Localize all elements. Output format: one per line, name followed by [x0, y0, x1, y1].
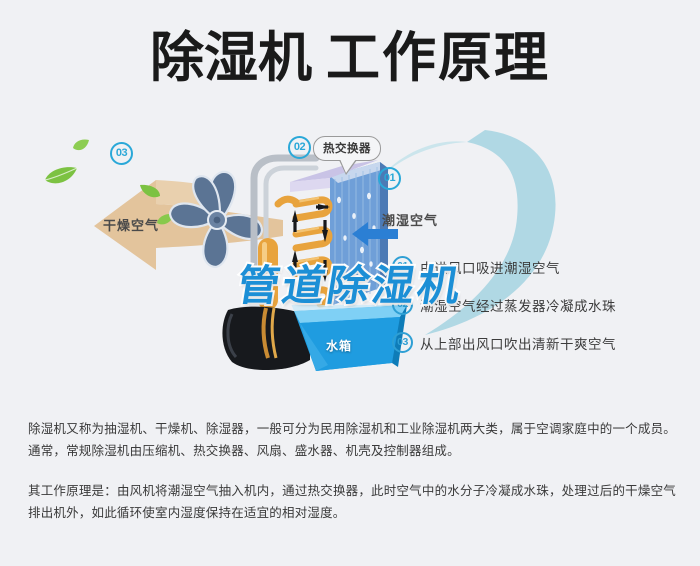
leaf-icon [44, 165, 78, 187]
humid-air-label: 潮湿空气 [382, 210, 438, 229]
step-badge: 03 [392, 332, 413, 353]
diagram-badge-03: 03 [110, 142, 133, 165]
diagram-badge-01: 01 [378, 167, 401, 190]
paragraph-2: 其工作原理是：由风机将潮湿空气抽入机内，通过热交换器，此时空气中的水分子冷凝成水… [28, 480, 676, 524]
watermark-text: 管道除湿机 [234, 262, 467, 310]
list-item: 03 从上部出风口吹出清新干爽空气 [392, 326, 692, 359]
page-title-part-b: 工作原理 [326, 28, 550, 88]
infographic-page: 除湿机工作原理 [0, 0, 700, 566]
diagram-badge-02: 02 [288, 136, 311, 159]
leaf-icon [139, 183, 161, 201]
step-text: 从上部出风口吹出清新干爽空气 [420, 333, 616, 353]
page-title-part-a: 除湿机 [150, 28, 312, 88]
heat-exchanger-callout: 热交换器 [313, 136, 381, 161]
dry-air-label: 干燥空气 [103, 215, 159, 234]
leaf-icon [72, 138, 90, 154]
water-tank-label: 水箱 [326, 337, 352, 354]
paragraph-1: 除湿机又称为抽湿机、干燥机、除湿器，一般可分为民用除湿机和工业除湿机两大类，属于… [28, 418, 676, 462]
body-copy: 除湿机又称为抽湿机、干燥机、除湿器，一般可分为民用除湿机和工业除湿机两大类，属于… [28, 418, 676, 524]
page-title: 除湿机工作原理 [0, 26, 700, 90]
